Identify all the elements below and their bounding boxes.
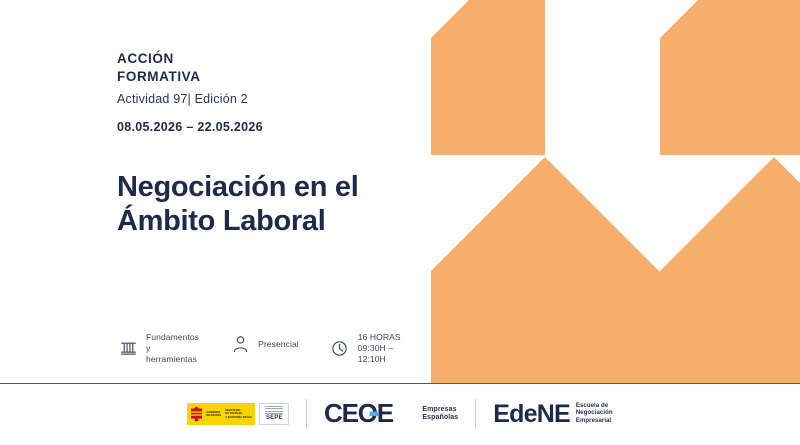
pentagon-tile-bottom-right: [660, 157, 800, 383]
meta-item-schedule-label: 16 HORAS 09:30H – 12:10H: [358, 332, 409, 365]
activity-reference: Actividad 97| Edición 2: [117, 91, 407, 107]
gobierno-yellow-band: GOBIERNO DE ESPAÑA MINISTERIO DE TRABAJO…: [187, 403, 255, 425]
svg-text:CEOE: CEOE: [324, 399, 394, 428]
ceoe-logo: CEOE Empresas Españolas: [324, 399, 458, 429]
person-icon: [229, 332, 251, 356]
classical-building-icon: [117, 337, 139, 361]
sepe-logo-lines: [265, 406, 283, 414]
edene-logo: EdeNE Escuela de Negociación Empresarial: [493, 402, 612, 427]
eyebrow-line-1: ACCIÓN: [117, 50, 407, 68]
meta-item-schedule: 16 HORAS 09:30H – 12:10H: [329, 332, 409, 365]
course-announcement-poster: ACCIÓN FORMATIVA Actividad 97| Edición 2…: [0, 0, 800, 445]
course-meta-row: Fundamentos y herramientas Presencial: [117, 332, 431, 365]
eyebrow-block: ACCIÓN FORMATIVA Actividad 97| Edición 2…: [117, 50, 407, 134]
footer-logos: GOBIERNO DE ESPAÑA MINISTERIO DE TRABAJO…: [0, 384, 800, 444]
clock-icon: [329, 337, 351, 361]
content-column: ACCIÓN FORMATIVA Actividad 97| Edición 2…: [0, 0, 431, 383]
pattern-svg: [431, 0, 800, 383]
course-title-line-1: Negociación en el: [117, 170, 417, 204]
ceoe-wordmark: CEOE: [324, 399, 416, 429]
edene-subtitle: Escuela de Negociación Empresarial: [576, 403, 613, 426]
course-title-line-2: Ámbito Laboral: [117, 204, 417, 238]
pentagon-tile-top-left: [431, 0, 545, 155]
gobierno-text-col-1: GOBIERNO DE ESPAÑA: [206, 411, 221, 418]
meta-item-modality-label: Presencial: [258, 339, 299, 350]
sepe-wordmark: SEPE: [266, 415, 283, 422]
orange-pentagon-pattern: [431, 0, 800, 383]
eyebrow-line-2: FORMATIVA: [117, 68, 407, 86]
footer-divider-1: [306, 399, 307, 429]
meta-item-topic-label: Fundamentos y herramientas: [146, 332, 199, 365]
footer-divider-2: [475, 399, 476, 429]
ceoe-wordmark-group: CEOE: [324, 399, 416, 429]
meta-item-topic: Fundamentos y herramientas: [117, 332, 199, 365]
edene-wordmark: EdeNE: [493, 402, 570, 427]
pentagon-tile-top-right: [660, 0, 800, 155]
gobierno-text-col-2: MINISTERIO DE TRABAJO Y ECONOMÍA SOCIAL: [225, 409, 252, 419]
course-dates: 08.05.2026 – 22.05.2026: [117, 120, 407, 134]
sepe-logo: SEPE: [259, 403, 289, 425]
gobierno-de-espana-logo: GOBIERNO DE ESPAÑA MINISTERIO DE TRABAJO…: [187, 403, 289, 425]
course-title: Negociación en el Ámbito Laboral: [117, 170, 417, 238]
spanish-coat-of-arms-icon: [190, 406, 203, 422]
footer-logo-bar: GOBIERNO DE ESPAÑA MINISTERIO DE TRABAJO…: [0, 383, 800, 445]
gobierno-text-columns: GOBIERNO DE ESPAÑA MINISTERIO DE TRABAJO…: [206, 409, 252, 419]
ceoe-subtitle: Empresas Españolas: [422, 406, 458, 423]
meta-item-modality: Presencial: [229, 332, 299, 356]
